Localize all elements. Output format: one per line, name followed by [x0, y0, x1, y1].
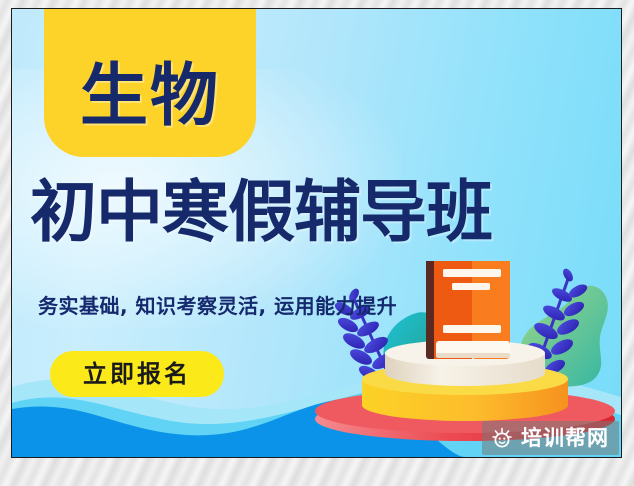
subject-tag: 生物: [44, 8, 256, 157]
wave-dark: [12, 398, 466, 457]
watermark-text: 培训帮网: [521, 428, 609, 449]
book-title-line-2: [452, 283, 490, 290]
podium-mid-body: [362, 379, 568, 405]
podium-top-body: [385, 353, 545, 373]
book: [426, 261, 510, 359]
podium-mid-top: [362, 363, 568, 395]
book-pages: [436, 341, 510, 357]
fern-right: [520, 267, 589, 393]
page-title: 初中寒假辅导班: [30, 179, 610, 246]
podium-top-surface: [385, 340, 545, 366]
sun-smiley-icon: [490, 426, 514, 450]
book-pages-shadow: [436, 353, 510, 358]
book-cover-right: [472, 261, 510, 359]
watermark: 培训帮网: [482, 421, 619, 455]
poster-canvas: 生物 初中寒假辅导班 务实基础, 知识考察灵活, 运用能力提升 立即报名: [11, 8, 622, 458]
teal-leaf-left: [383, 312, 434, 380]
book-cover-left: [434, 261, 472, 359]
green-blob-right: [520, 286, 608, 387]
poster-frame: 生物 初中寒假辅导班 务实基础, 知识考察灵活, 运用能力提升 立即报名: [0, 0, 634, 486]
podium-mid-bottom: [362, 389, 568, 421]
book-spine: [426, 261, 440, 359]
subtitle-text: 务实基础, 知识考察灵活, 运用能力提升: [38, 290, 397, 319]
book-title-line-1: [443, 269, 501, 277]
podium-top-bottom: [385, 360, 545, 386]
enroll-now-button[interactable]: 立即报名: [50, 351, 224, 397]
subject-tag-label: 生物: [80, 63, 220, 131]
book-author-line: [443, 325, 501, 333]
